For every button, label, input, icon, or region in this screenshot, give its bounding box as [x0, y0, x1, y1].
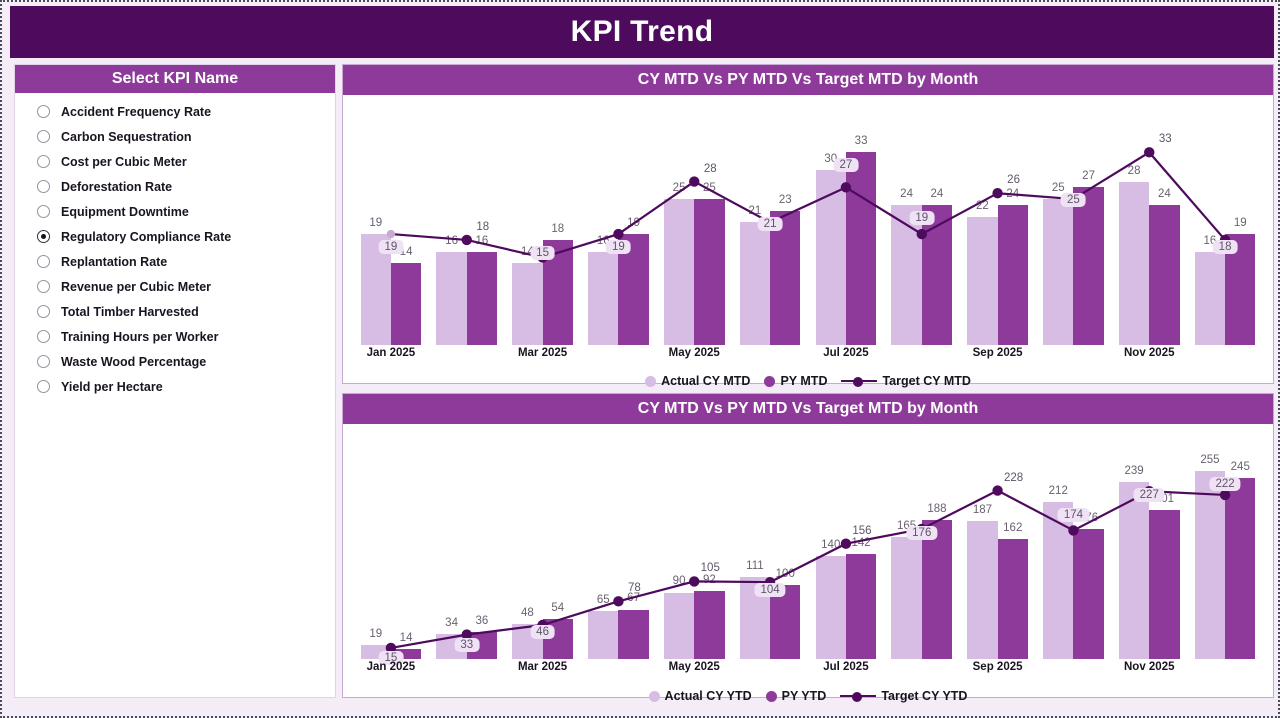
bar-py[interactable] — [391, 649, 421, 659]
slicer-item-total-timber-harvested[interactable]: Total Timber Harvested — [15, 299, 335, 324]
bar-pair — [1195, 95, 1256, 345]
chart-title-ytd: CY MTD Vs PY MTD Vs Target MTD by Month — [638, 400, 978, 418]
bar-group — [361, 95, 422, 345]
radio-unselected-icon[interactable] — [37, 155, 50, 168]
slicer-item-accident-frequency-rate[interactable]: Accident Frequency Rate — [15, 99, 335, 124]
bar-py[interactable] — [998, 205, 1028, 345]
legend-label: Actual CY MTD — [661, 374, 750, 388]
bar-pair — [1119, 95, 1180, 345]
bar-group — [816, 424, 877, 659]
radio-unselected-icon[interactable] — [37, 180, 50, 193]
bar-py[interactable] — [467, 252, 497, 345]
bar-py[interactable] — [770, 211, 800, 345]
bar-group — [1119, 95, 1180, 345]
legend-dot-icon — [645, 376, 656, 387]
legend-label: Target CY MTD — [882, 374, 970, 388]
plot-area-ytd: 1914343648546567909211110014014216518818… — [343, 424, 1273, 659]
bar-py[interactable] — [1149, 205, 1179, 345]
bar-py[interactable] — [694, 199, 724, 345]
bar-pair — [967, 95, 1028, 345]
bar-actual[interactable] — [967, 521, 997, 659]
slicer-item-replantation-rate[interactable]: Replantation Rate — [15, 249, 335, 274]
legend-item[interactable]: PY MTD — [764, 374, 827, 388]
x-axis-tick-label: Mar 2025 — [518, 661, 567, 673]
chart-panel-ytd: CY MTD Vs PY MTD Vs Target MTD by Month … — [342, 393, 1274, 698]
bar-pair — [1043, 424, 1104, 659]
bar-py[interactable] — [543, 240, 573, 345]
x-axis-tick-label: Jul 2025 — [823, 347, 868, 359]
bar-pair — [664, 95, 725, 345]
slicer-item-label: Training Hours per Worker — [61, 330, 218, 344]
bar-group — [816, 95, 877, 345]
bar-pair — [1119, 424, 1180, 659]
bar-group — [512, 424, 573, 659]
bar-group — [967, 424, 1028, 659]
x-axis-tick-label: Sep 2025 — [973, 661, 1023, 673]
bar-group — [1195, 424, 1256, 659]
bar-pair — [891, 424, 952, 659]
bar-group — [740, 424, 801, 659]
kpi-slicer: Select KPI Name Accident Frequency RateC… — [14, 64, 336, 698]
bar-actual[interactable] — [512, 624, 542, 659]
legend-line-marker-icon — [841, 376, 877, 387]
slicer-item-waste-wood-percentage[interactable]: Waste Wood Percentage — [15, 349, 335, 374]
bar-py[interactable] — [618, 234, 648, 345]
bar-group — [740, 95, 801, 345]
slicer-item-equipment-downtime[interactable]: Equipment Downtime — [15, 199, 335, 224]
radio-unselected-icon[interactable] — [37, 255, 50, 268]
x-axis-tick-label: Jul 2025 — [823, 661, 868, 673]
bar-group — [967, 95, 1028, 345]
x-axis-tick-label: Jan 2025 — [367, 347, 416, 359]
bar-group — [512, 95, 573, 345]
slicer-item-label: Equipment Downtime — [61, 205, 189, 219]
bar-pair — [967, 424, 1028, 659]
legend-item[interactable]: Target CY YTD — [840, 689, 967, 703]
bar-group — [1195, 95, 1256, 345]
legend-line-marker-icon — [840, 691, 876, 702]
chart-panel-ytd-header: CY MTD Vs PY MTD Vs Target MTD by Month — [343, 394, 1273, 424]
x-axis-tick-label: Nov 2025 — [1124, 661, 1175, 673]
legend-ytd: Actual CY YTDPY YTDTarget CY YTD — [343, 686, 1273, 706]
legend-dot-icon — [649, 691, 660, 702]
bar-group — [1043, 95, 1104, 345]
bar-pair — [588, 95, 649, 345]
bar-actual[interactable] — [1119, 482, 1149, 659]
slicer-item-label: Regulatory Compliance Rate — [61, 230, 231, 244]
bar-pair — [436, 95, 497, 345]
x-axis-tick-label: Jan 2025 — [367, 661, 416, 673]
legend-item[interactable]: Actual CY MTD — [645, 374, 750, 388]
bar-py[interactable] — [694, 591, 724, 659]
chart-title-mtd: CY MTD Vs PY MTD Vs Target MTD by Month — [638, 71, 978, 89]
bar-py[interactable] — [770, 585, 800, 659]
legend-label: PY MTD — [780, 374, 827, 388]
bar-pair — [512, 95, 573, 345]
bar-py[interactable] — [846, 554, 876, 659]
legend-label: Target CY YTD — [881, 689, 967, 703]
bar-actual[interactable] — [664, 199, 694, 345]
legend-dot-icon — [764, 376, 775, 387]
bar-actual[interactable] — [1195, 471, 1225, 659]
bar-py[interactable] — [467, 632, 497, 659]
slicer-item-cost-per-cubic-meter[interactable]: Cost per Cubic Meter — [15, 149, 335, 174]
radio-unselected-icon[interactable] — [37, 205, 50, 218]
slicer-header: Select KPI Name — [15, 65, 335, 93]
x-axis-tick-label: Nov 2025 — [1124, 347, 1175, 359]
bar-group — [436, 424, 497, 659]
bar-py[interactable] — [1225, 478, 1255, 659]
x-axis-tick-label: Sep 2025 — [973, 347, 1023, 359]
radio-unselected-icon[interactable] — [37, 105, 50, 118]
bar-py[interactable] — [391, 263, 421, 345]
slicer-item-label: Cost per Cubic Meter — [61, 155, 187, 169]
bar-actual[interactable] — [891, 205, 921, 345]
x-axis-mtd: Jan 2025Mar 2025May 2025Jul 2025Sep 2025… — [353, 345, 1263, 365]
bar-actual[interactable] — [436, 634, 466, 659]
plot-body-ytd: 1914343648546567909211110014014216518818… — [353, 424, 1263, 659]
bar-py[interactable] — [1073, 529, 1103, 659]
slicer-option-list: Accident Frequency RateCarbon Sequestrat… — [15, 93, 335, 399]
slicer-item-label: Deforestation Rate — [61, 180, 172, 194]
radio-selected-icon[interactable] — [37, 230, 50, 243]
bar-group — [664, 424, 725, 659]
legend-mtd: Actual CY MTDPY MTDTarget CY MTD — [343, 371, 1273, 391]
radio-unselected-icon[interactable] — [37, 280, 50, 293]
bar-actual[interactable] — [1043, 199, 1073, 345]
bar-actual[interactable] — [588, 252, 618, 345]
bar-py[interactable] — [922, 205, 952, 345]
slicer-item-label: Replantation Rate — [61, 255, 167, 269]
legend-item[interactable]: Target CY MTD — [841, 374, 970, 388]
bar-group — [891, 95, 952, 345]
bar-actual[interactable] — [740, 222, 770, 345]
bar-pair — [740, 424, 801, 659]
page-header: KPI Trend — [10, 6, 1274, 58]
bar-actual[interactable] — [816, 556, 846, 659]
bar-pair — [512, 424, 573, 659]
radio-unselected-icon[interactable] — [37, 355, 50, 368]
bar-group — [588, 95, 649, 345]
plot-area-mtd: 1914161614181619252521233033242422242527… — [343, 95, 1273, 345]
slicer-item-label: Carbon Sequestration — [61, 130, 192, 144]
x-axis-tick-label: Mar 2025 — [518, 347, 567, 359]
bar-pair — [891, 95, 952, 345]
legend-label: PY YTD — [782, 689, 827, 703]
bar-group — [436, 95, 497, 345]
bar-pair — [664, 424, 725, 659]
x-axis-tick-label: May 2025 — [669, 347, 720, 359]
radio-unselected-icon[interactable] — [37, 380, 50, 393]
slicer-item-deforestation-rate[interactable]: Deforestation Rate — [15, 174, 335, 199]
bar-py[interactable] — [922, 520, 952, 659]
bar-actual[interactable] — [816, 170, 846, 345]
slicer-item-training-hours-per-worker[interactable]: Training Hours per Worker — [15, 324, 335, 349]
chart-panel-mtd: CY MTD Vs PY MTD Vs Target MTD by Month … — [342, 64, 1274, 384]
slicer-item-carbon-sequestration[interactable]: Carbon Sequestration — [15, 124, 335, 149]
slicer-item-label: Yield per Hectare — [61, 380, 163, 394]
dashboard-canvas: KPI Trend Select KPI Name Accident Frequ… — [0, 0, 1280, 718]
bar-actual[interactable] — [512, 263, 542, 345]
radio-unselected-icon[interactable] — [37, 305, 50, 318]
bar-py[interactable] — [998, 539, 1028, 659]
legend-dot-icon — [766, 691, 777, 702]
slicer-item-regulatory-compliance-rate[interactable]: Regulatory Compliance Rate — [15, 224, 335, 249]
bar-actual[interactable] — [588, 611, 618, 659]
bar-py[interactable] — [618, 610, 648, 660]
slicer-title: Select KPI Name — [112, 70, 238, 88]
page-title: KPI Trend — [571, 15, 714, 49]
legend-item[interactable]: Actual CY YTD — [649, 689, 752, 703]
bar-py[interactable] — [1149, 510, 1179, 659]
slicer-item-yield-per-hectare[interactable]: Yield per Hectare — [15, 374, 335, 399]
bar-actual[interactable] — [664, 593, 694, 660]
bar-pair — [588, 424, 649, 659]
bar-actual[interactable] — [436, 252, 466, 345]
slicer-item-label: Waste Wood Percentage — [61, 355, 206, 369]
slicer-item-revenue-per-cubic-meter[interactable]: Revenue per Cubic Meter — [15, 274, 335, 299]
bar-group — [361, 424, 422, 659]
bar-pair — [1043, 95, 1104, 345]
bar-py[interactable] — [543, 619, 573, 659]
bar-py[interactable] — [846, 152, 876, 345]
slicer-item-label: Accident Frequency Rate — [61, 105, 211, 119]
legend-item[interactable]: PY YTD — [766, 689, 827, 703]
bar-actual[interactable] — [1195, 252, 1225, 345]
bar-pair — [1195, 424, 1256, 659]
bar-actual[interactable] — [1119, 182, 1149, 345]
bar-pair — [361, 95, 422, 345]
bar-pair — [816, 424, 877, 659]
bar-pair — [436, 424, 497, 659]
legend-label: Actual CY YTD — [665, 689, 752, 703]
bar-actual[interactable] — [740, 577, 770, 659]
bar-actual[interactable] — [361, 645, 391, 659]
bar-py[interactable] — [1225, 234, 1255, 345]
radio-unselected-icon[interactable] — [37, 130, 50, 143]
bar-group — [1043, 424, 1104, 659]
x-axis-ytd: Jan 2025Mar 2025May 2025Jul 2025Sep 2025… — [353, 659, 1263, 679]
bar-actual[interactable] — [967, 217, 997, 345]
bar-py[interactable] — [1073, 187, 1103, 345]
bar-group — [1119, 424, 1180, 659]
slicer-item-label: Total Timber Harvested — [61, 305, 199, 319]
bar-pair — [361, 424, 422, 659]
bar-pair — [816, 95, 877, 345]
plot-body-mtd: 1914161614181619252521233033242422242527… — [353, 95, 1263, 345]
bar-group — [588, 424, 649, 659]
chart-panel-mtd-header: CY MTD Vs PY MTD Vs Target MTD by Month — [343, 65, 1273, 95]
x-axis-tick-label: May 2025 — [669, 661, 720, 673]
radio-unselected-icon[interactable] — [37, 330, 50, 343]
bar-actual[interactable] — [1043, 502, 1073, 659]
bar-actual[interactable] — [891, 537, 921, 659]
bar-pair — [740, 95, 801, 345]
bar-group — [664, 95, 725, 345]
bar-actual[interactable] — [361, 234, 391, 345]
bar-group — [891, 424, 952, 659]
slicer-item-label: Revenue per Cubic Meter — [61, 280, 211, 294]
